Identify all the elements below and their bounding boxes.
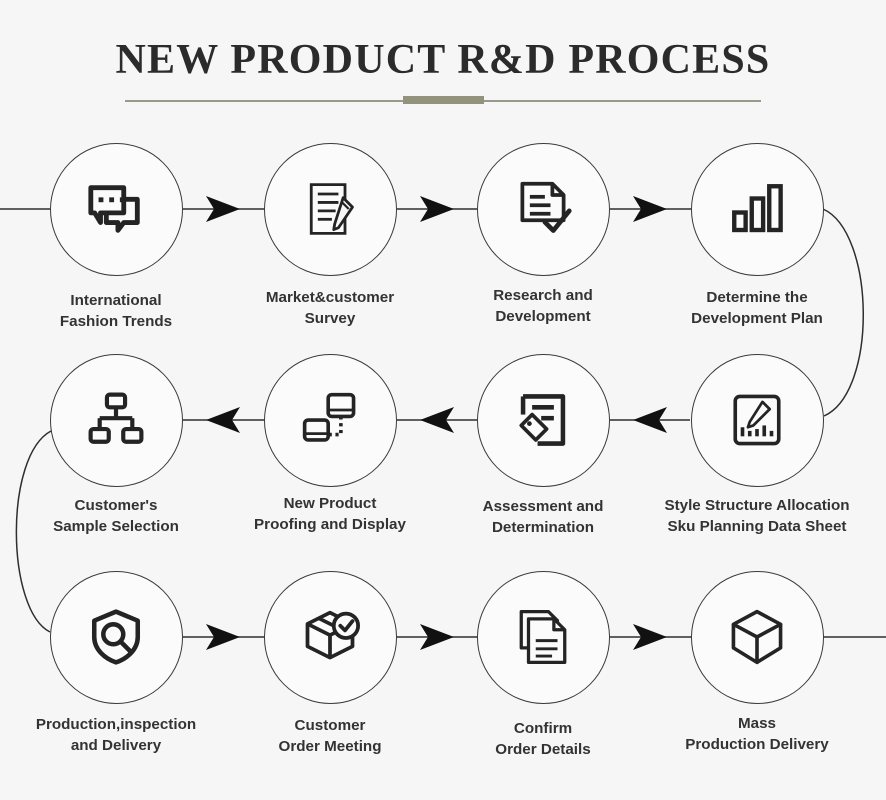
arrow-7-8	[206, 407, 240, 433]
step-circle-11[interactable]	[477, 571, 610, 704]
step-circle-8[interactable]	[50, 354, 183, 487]
step-circle-7[interactable]	[264, 354, 397, 487]
arrow-6-7	[420, 407, 454, 433]
step-circle-2[interactable]	[264, 143, 397, 276]
step-circle-3[interactable]	[477, 143, 610, 276]
arrow-11-12	[633, 624, 667, 650]
title-block: NEW PRODUCT R&D PROCESS	[0, 38, 886, 82]
document-check-icon	[513, 179, 573, 239]
step-circle-12[interactable]	[691, 571, 824, 704]
hierarchy-icon	[87, 391, 145, 449]
box-check-icon	[300, 607, 360, 667]
step-circle-6[interactable]	[477, 354, 610, 487]
document-tag-icon	[514, 391, 572, 449]
clipboard-chart-pencil-icon	[728, 391, 786, 449]
shield-search-icon	[87, 608, 145, 666]
arrow-5-6	[633, 407, 667, 433]
title-divider-accent	[403, 96, 484, 104]
bar-chart-icon	[729, 181, 785, 237]
document-pencil-icon	[300, 179, 360, 239]
process-diagram: NEW PRODUCT R&D PROCESS	[0, 0, 886, 800]
step-circle-4[interactable]	[691, 143, 824, 276]
step-circle-5[interactable]	[691, 354, 824, 487]
arrow-10-11	[420, 624, 454, 650]
step-label-4: Determine the Development Plan	[627, 288, 886, 330]
arrow-2-3	[420, 196, 454, 222]
arrow-9-10	[206, 624, 240, 650]
page-title: NEW PRODUCT R&D PROCESS	[0, 38, 886, 82]
arrow-1-2	[206, 196, 240, 222]
cube-icon	[728, 608, 786, 666]
step-label-12: Mass Production Delivery	[627, 714, 886, 756]
chat-bubbles-icon	[85, 178, 147, 240]
arrow-3-4	[633, 196, 667, 222]
step-circle-9[interactable]	[50, 571, 183, 704]
two-screens-icon	[301, 391, 359, 449]
step-circle-10[interactable]	[264, 571, 397, 704]
step-circle-1[interactable]	[50, 143, 183, 276]
stacked-documents-icon	[514, 608, 572, 666]
step-label-8: Customer's Sample Selection	[0, 496, 246, 538]
